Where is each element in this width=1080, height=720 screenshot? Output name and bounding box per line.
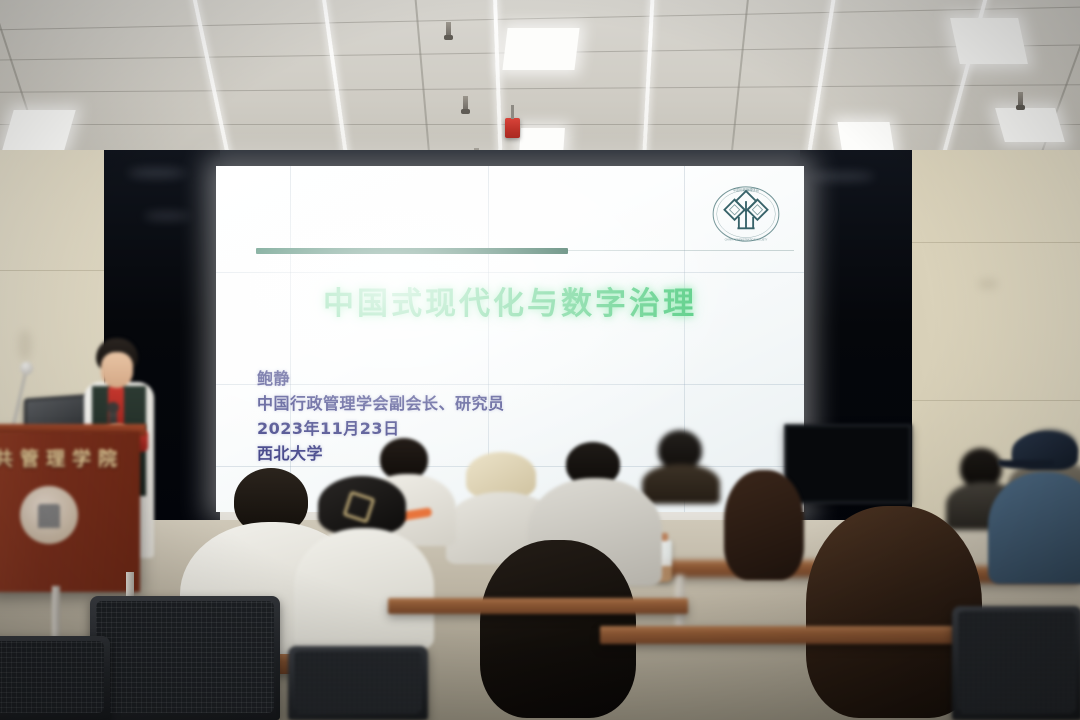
sprinkler-head	[463, 96, 468, 111]
panel-light	[995, 108, 1065, 142]
sprinkler-head	[1018, 92, 1023, 107]
desk	[600, 626, 960, 644]
panel-light	[2, 110, 75, 150]
panel-light	[502, 28, 579, 70]
chair	[90, 596, 280, 720]
chair	[288, 646, 428, 720]
attendee-long-brown-hair-mid	[716, 470, 812, 590]
attendee-black-cap-logo	[304, 476, 422, 646]
slide-divider-rule	[256, 248, 568, 254]
university-crest	[20, 486, 78, 544]
backdrop-header-panel	[104, 150, 912, 166]
fire-alarm-bell	[505, 118, 520, 138]
presenter-face	[101, 352, 133, 388]
lecture-hall-scene: 中国行政管理学会 CHINA ADMINISTRATION SOCIETY 中国…	[0, 0, 1080, 720]
panel-light	[950, 18, 1028, 64]
svg-text:中国行政管理学会: 中国行政管理学会	[733, 187, 760, 192]
attendee-navy-cap-right	[1004, 432, 1080, 582]
slide-subtitle-affiliation: 中国行政管理学会副会长、研究员	[257, 391, 505, 416]
slide-subtitle-presenter: 鲍静	[257, 366, 505, 391]
desk	[388, 598, 688, 614]
slide-divider-rule-thin	[568, 250, 794, 251]
chair	[952, 606, 1080, 720]
podium-sign: 共管理学院	[0, 444, 134, 471]
slide-title: 中国式现代化与数字治理	[216, 278, 804, 323]
svg-text:CHINA ADMINISTRATION SOCIETY: CHINA ADMINISTRATION SOCIETY	[725, 237, 768, 241]
attendee-back-row-suit	[646, 430, 714, 500]
society-emblem-icon: 中国行政管理学会 CHINA ADMINISTRATION SOCIETY	[710, 184, 782, 244]
chair	[0, 636, 110, 720]
sprinkler-head	[446, 22, 451, 37]
